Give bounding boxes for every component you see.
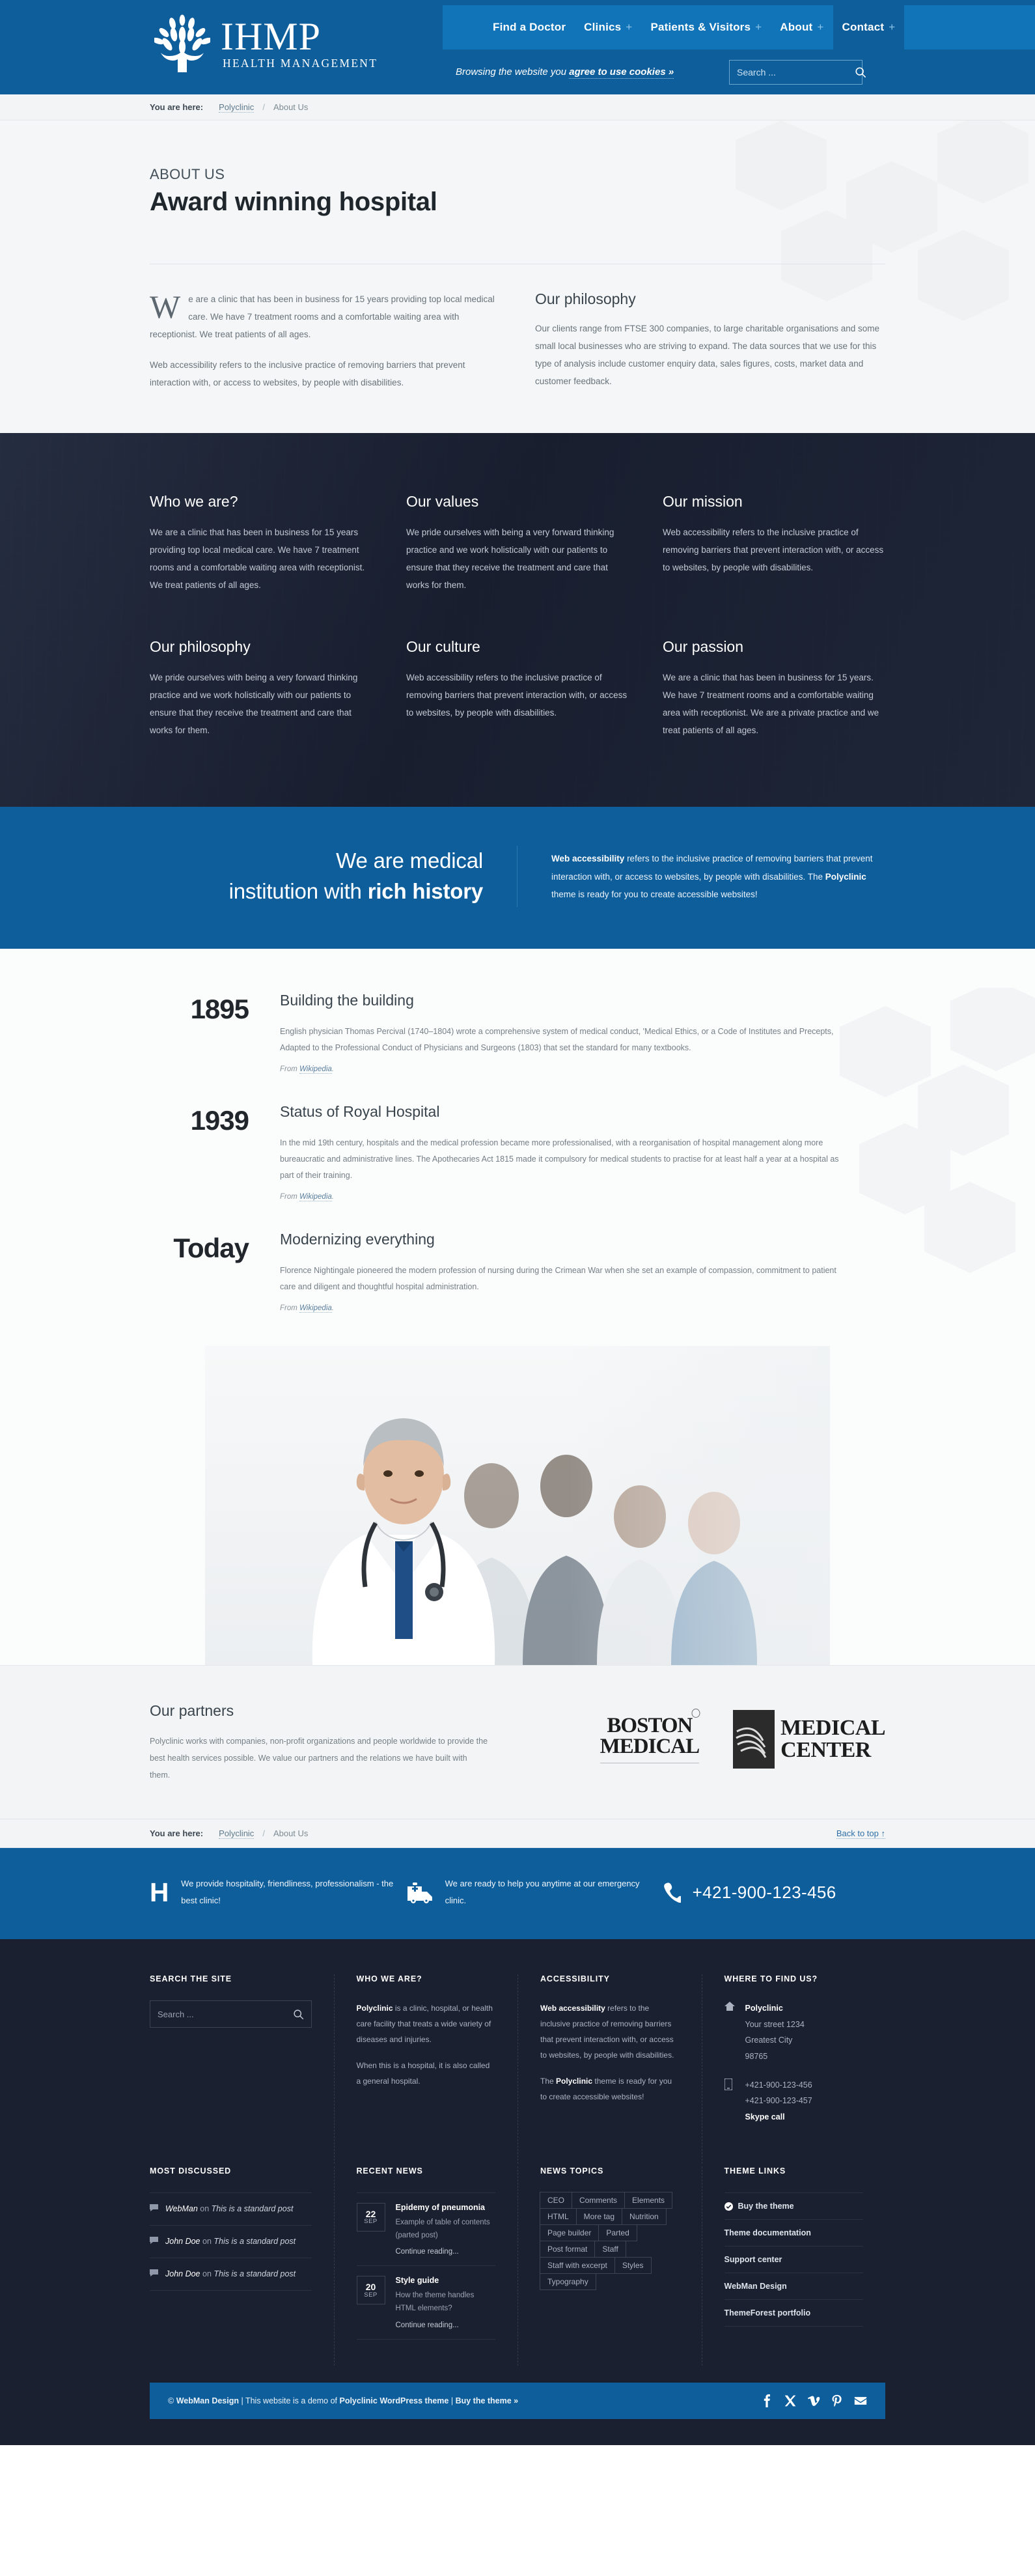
footer-search[interactable] — [150, 2000, 312, 2028]
widget-title: MOST DISCUSSED — [150, 2166, 312, 2176]
news-date: 22SEP — [357, 2203, 385, 2232]
wikipedia-link[interactable]: Wikipedia — [299, 1193, 332, 1201]
comment-author: John Doe — [165, 2269, 200, 2278]
tag-post-format[interactable]: Post format — [540, 2241, 595, 2258]
history-banner: We are medical institution with rich his… — [0, 807, 1035, 949]
timeline-heading: Modernizing everything — [280, 1231, 846, 1248]
breadcrumb-bar-bottom: You are here: Polyclinic / About Us Back… — [0, 1819, 1035, 1848]
timeline-text: Florence Nightingale pioneered the moder… — [280, 1263, 846, 1295]
partner-logo-line-2: CENTER — [780, 1739, 885, 1761]
wikipedia-link[interactable]: Wikipedia — [299, 1304, 332, 1313]
widget-title: NEWS TOPICS — [540, 2166, 680, 2176]
timeline-text: In the mid 19th century, hospitals and t… — [280, 1135, 846, 1184]
philosophy-heading: Our philosophy — [535, 290, 885, 308]
phone-block: +421-900-123-456 +421-900-123-457 Skype … — [724, 2077, 864, 2125]
footer-search-input[interactable] — [150, 2009, 286, 2019]
tag-elements[interactable]: Elements — [624, 2192, 672, 2209]
footer-widget-who-we-are: WHO WE ARE? Polyclinic is a clinic, hosp… — [334, 1974, 518, 2164]
value-card-heading: Our culture — [406, 638, 629, 656]
nav-item-label: Clinics — [584, 21, 621, 34]
history-timeline-section: 1895Building the buildingEnglish physici… — [0, 949, 1035, 1665]
banner-body-bold-1: Web accessibility — [551, 854, 624, 863]
ambulance-icon — [406, 1881, 434, 1903]
tag-html[interactable]: HTML — [540, 2208, 577, 2225]
wikipedia-link[interactable]: Wikipedia — [299, 1065, 332, 1074]
hospital-h-icon: H — [150, 1877, 169, 1908]
news-month: SEP — [364, 2292, 378, 2299]
copy-part-1: © — [168, 2396, 176, 2405]
comment-icon — [150, 2267, 158, 2282]
timeline-heading: Status of Royal Hospital — [280, 1103, 846, 1121]
search-icon — [855, 66, 866, 78]
nav-item-find-a-doctor[interactable]: Find a Doctor — [484, 5, 575, 49]
copyright-text: © WebMan Design | This website is a demo… — [168, 2396, 518, 2405]
theme-link-label: Theme documentation — [724, 2228, 811, 2237]
footer-widget-most-discussed: MOST DISCUSSED WebMan on This is a stand… — [150, 2166, 334, 2366]
source-suffix: . — [332, 1304, 334, 1312]
footer-phone-block[interactable]: +421-900-123-456 — [663, 1882, 885, 1903]
search-input[interactable] — [730, 67, 855, 77]
mobile-icon — [724, 2077, 736, 2125]
comment-post-title[interactable]: This is a standard post — [214, 2237, 296, 2246]
copy-bold-1[interactable]: WebMan Design — [176, 2396, 239, 2405]
footer-widget-search: SEARCH THE SITE — [150, 1974, 334, 2164]
cookie-consent-link[interactable]: agree to use cookies » — [569, 66, 674, 79]
a11y-pre: The — [540, 2077, 556, 2086]
copyright-section: © WebMan Design | This website is a demo… — [0, 2366, 1035, 2445]
comment-on: on — [200, 2237, 214, 2246]
chevron-plus-icon: + — [755, 21, 762, 34]
news-excerpt: How the theme handles HTML elements? — [396, 2289, 496, 2315]
tag-page-builder[interactable]: Page builder — [540, 2224, 599, 2241]
theme-link-webman-design[interactable]: WebMan Design — [724, 2273, 864, 2300]
footer-phone-2[interactable]: +421-900-123-457 — [745, 2096, 812, 2105]
hero-divider — [150, 264, 885, 264]
value-card-text: We are a clinic that has been in busines… — [150, 524, 372, 594]
value-card-heading: Our philosophy — [150, 638, 372, 656]
hero-eyebrow: ABOUT US — [150, 166, 885, 183]
timeline-source: From Wikipedia. — [280, 1065, 846, 1073]
footer-phone-1[interactable]: +421-900-123-456 — [745, 2080, 812, 2090]
value-card: Our missionWeb accessibility refers to t… — [663, 493, 885, 594]
doctors-team-photo — [205, 1346, 830, 1665]
breadcrumb-home-link[interactable]: Polyclinic — [219, 102, 254, 113]
source-suffix: . — [332, 1065, 334, 1073]
tag-staff[interactable]: Staff — [594, 2241, 626, 2258]
news-excerpt: Example of table of contents (parted pos… — [396, 2216, 496, 2242]
site-logo[interactable]: IHMP HEALTH MANAGEMENT — [154, 13, 378, 73]
chevron-plus-icon: + — [626, 21, 632, 34]
tree-hands-logo-icon — [154, 13, 210, 73]
theme-link-label: Support center — [724, 2255, 782, 2264]
value-card-text: Web accessibility refers to the inclusiv… — [406, 669, 629, 721]
timeline-entry: 1939Status of Royal HospitalIn the mid 1… — [150, 1107, 885, 1201]
comment-post-title[interactable]: This is a standard post — [212, 2204, 294, 2213]
value-card-heading: Our passion — [663, 638, 885, 656]
value-card-heading: Who we are? — [150, 493, 372, 511]
banner-body-bold-2: Polyclinic — [825, 872, 866, 882]
timeline-source: From Wikipedia. — [280, 1304, 846, 1312]
news-day: 22 — [366, 2209, 376, 2219]
banner-line-1: We are medical — [336, 848, 483, 873]
comment-icon — [150, 2234, 158, 2249]
nav-item-label: About — [780, 21, 812, 34]
check-circle-icon — [724, 2202, 733, 2211]
partner-logo-line-1: MEDICAL — [780, 1717, 885, 1739]
copy-bold-2[interactable]: Polyclinic WordPress theme — [339, 2396, 448, 2405]
banner-headline: We are medical institution with rich his… — [150, 846, 517, 907]
value-card-text: Web accessibility refers to the inclusiv… — [663, 524, 885, 576]
theme-link-themeforest-portfolio[interactable]: ThemeForest portfolio — [724, 2300, 864, 2327]
values-section: Who we are?We are a clinic that has been… — [0, 433, 1035, 807]
email-icon[interactable] — [854, 2394, 867, 2407]
partner-logo-rule — [600, 1763, 700, 1763]
search-icon — [293, 2009, 304, 2020]
nav-item-label: Contact — [842, 21, 885, 34]
value-card: Our passionWe are a clinic that has been… — [663, 638, 885, 739]
header-search[interactable] — [729, 60, 862, 85]
source-prefix: From — [280, 1193, 299, 1201]
source-prefix: From — [280, 1065, 299, 1073]
comment-icon — [150, 2202, 158, 2217]
address-block: Polyclinic Your street 1234 Greatest Cit… — [724, 2000, 864, 2064]
comment-on: on — [198, 2204, 212, 2213]
tag-staff-with-excerpt[interactable]: Staff with excerpt — [540, 2257, 615, 2274]
news-month: SEP — [364, 2219, 378, 2225]
timeline-entry: 1895Building the buildingEnglish physici… — [150, 996, 885, 1073]
breadcrumb-bar-top: You are here: Polyclinic / About Us — [0, 94, 1035, 120]
hero-right-column: Our philosophy Our clients range from FT… — [535, 290, 885, 391]
home-icon — [724, 2000, 736, 2064]
footer-highlight-hospitality: H We provide hospitality, friendliness, … — [150, 1875, 406, 1909]
nav-item-label: Patients & Visitors — [650, 21, 751, 34]
footer-widget-find-us: WHERE TO FIND US? Polyclinic Your street… — [702, 1974, 886, 2164]
breadcrumb-current: About Us — [273, 102, 308, 112]
news-title[interactable]: Epidemy of pneumonia — [396, 2203, 496, 2212]
news-date: 20SEP — [357, 2276, 385, 2304]
timeline-source: From Wikipedia. — [280, 1193, 846, 1201]
footer-phone-number[interactable]: +421-900-123-456 — [693, 1883, 836, 1903]
tag-ceo[interactable]: CEO — [540, 2192, 572, 2209]
breadcrumb-label: You are here: — [150, 102, 203, 112]
value-card: Our cultureWeb accessibility refers to t… — [406, 638, 629, 739]
back-to-top-link[interactable]: Back to top ↑ — [836, 1828, 885, 1839]
value-card: Who we are?We are a clinic that has been… — [150, 493, 372, 594]
tag-parted[interactable]: Parted — [598, 2224, 637, 2241]
hero-paragraph: Web accessibility refers to the inclusiv… — [150, 356, 500, 391]
who-text-2: When this is a hospital, it is also call… — [357, 2058, 496, 2089]
widget-title: SEARCH THE SITE — [150, 1974, 312, 1983]
theme-link-label: WebMan Design — [724, 2282, 787, 2291]
logo-title: IHMP — [221, 17, 378, 56]
site-footer: SEARCH THE SITE WHO WE ARE? Polyclin — [0, 1939, 1035, 2444]
tag-comments[interactable]: Comments — [572, 2192, 625, 2209]
partner-logo-line-1: BOSTON — [600, 1715, 700, 1736]
widget-title: ACCESSIBILITY — [540, 1974, 680, 1983]
cookie-notice: Browsing the website you agree to use co… — [456, 66, 674, 77]
value-card-text: We are a clinic that has been in busines… — [663, 669, 885, 739]
comment-item[interactable]: John Doe on This is a standard post — [150, 2226, 312, 2258]
footer-highlight-text: We provide hospitality, friendliness, pr… — [181, 1875, 406, 1909]
banner-line-2-plain: institution with — [229, 879, 368, 903]
tag-nutrition[interactable]: Nutrition — [622, 2208, 667, 2225]
footer-search-submit-button[interactable] — [286, 2001, 311, 2027]
facebook-icon[interactable] — [760, 2394, 773, 2407]
a11y-bold-2: Polyclinic — [556, 2077, 592, 2086]
timeline-entry: TodayModernizing everythingFlorence Nigh… — [150, 1235, 885, 1312]
source-prefix: From — [280, 1304, 299, 1312]
banner-body-text-2: theme is ready for you to create accessi… — [551, 889, 758, 899]
theme-link-buy-the-theme[interactable]: Buy the theme — [724, 2192, 864, 2220]
partners-text: Polyclinic works with companies, non-pro… — [150, 1733, 488, 1784]
chevron-plus-icon: + — [817, 21, 823, 34]
footer-highlight-text: We are ready to help you anytime at our … — [445, 1875, 663, 1909]
timeline-heading: Building the building — [280, 992, 846, 1009]
comment-item[interactable]: WebMan on This is a standard post — [150, 2192, 312, 2226]
address-street: Your street 1234 — [745, 2020, 805, 2029]
value-card: Our valuesWe pride ourselves with being … — [406, 493, 629, 594]
breadcrumb-separator: / — [262, 102, 265, 112]
breadcrumb-current: About Us — [273, 1828, 308, 1838]
page-title: Award winning hospital — [150, 188, 885, 217]
news-item[interactable]: 20SEPStyle guideHow the theme handles HT… — [357, 2266, 496, 2339]
phone-icon — [663, 1882, 681, 1903]
timeline-year: Today — [150, 1235, 280, 1312]
vimeo-icon[interactable] — [807, 2394, 820, 2407]
breadcrumb-home-link[interactable]: Polyclinic — [219, 1828, 254, 1839]
boston-medical-logo[interactable]: BOSTON MEDICAL — [600, 1715, 700, 1763]
news-item[interactable]: 22SEPEpidemy of pneumoniaExample of tabl… — [357, 2192, 496, 2266]
value-card-text: We pride ourselves with being a very for… — [406, 524, 629, 594]
news-day: 20 — [366, 2282, 376, 2292]
banner-line-2-bold: rich history — [368, 879, 483, 903]
hero-left-column: We are a clinic that has been in busines… — [150, 290, 500, 391]
comment-author: WebMan — [165, 2204, 198, 2213]
search-submit-button[interactable] — [855, 61, 866, 84]
banner-body: Web accessibility refers to the inclusiv… — [517, 846, 885, 907]
theme-link-support-center[interactable]: Support center — [724, 2247, 864, 2273]
copy-bold-3[interactable]: Buy the theme » — [456, 2396, 519, 2405]
about-hero-section: ABOUT US Award winning hospital We are a… — [0, 120, 1035, 433]
logo-subtitle: HEALTH MANAGEMENT — [221, 58, 378, 70]
medical-center-logo[interactable]: MEDICAL CENTER — [733, 1710, 885, 1769]
cookie-prefix: Browsing the website you — [456, 66, 569, 77]
value-card: Our philosophyWe pride ourselves with be… — [150, 638, 372, 739]
theme-link-label: ThemeForest portfolio — [724, 2308, 811, 2317]
nav-item-patients-visitors[interactable]: Patients & Visitors+ — [641, 5, 771, 49]
medical-center-mark-icon — [733, 1710, 775, 1769]
footer-widget-recent-news: RECENT NEWS 22SEPEpidemy of pneumoniaExa… — [334, 2166, 518, 2366]
a11y-bold: Web accessibility — [540, 2004, 605, 2013]
page-root: IHMP HEALTH MANAGEMENT Find a DoctorClin… — [0, 0, 1035, 2445]
widget-title: RECENT NEWS — [357, 2166, 496, 2176]
comment-author: John Doe — [165, 2237, 200, 2246]
footer-skype[interactable]: Skype call — [745, 2112, 785, 2121]
comment-post-title[interactable]: This is a standard post — [214, 2269, 296, 2278]
widget-title: WHO WE ARE? — [357, 1974, 496, 1983]
breadcrumb-separator: / — [262, 1828, 265, 1838]
news-continue-link[interactable]: Continue reading... — [396, 2248, 496, 2256]
theme-link-theme-documentation[interactable]: Theme documentation — [724, 2220, 864, 2247]
source-suffix: . — [332, 1193, 334, 1201]
tag-more-tag[interactable]: More tag — [576, 2208, 622, 2225]
social-links — [760, 2394, 867, 2407]
hero-paragraph: We are a clinic that has been in busines… — [150, 290, 500, 343]
partners-heading: Our partners — [150, 1702, 488, 1720]
comment-on: on — [200, 2269, 214, 2278]
value-card-heading: Our values — [406, 493, 629, 511]
partners-section: Our partners Polyclinic works with compa… — [0, 1665, 1035, 1819]
tag-typography[interactable]: Typography — [540, 2273, 596, 2290]
main-navigation[interactable]: Find a DoctorClinics+Patients & Visitors… — [443, 5, 1035, 49]
pinterest-icon[interactable] — [831, 2394, 844, 2407]
copy-part-3: | — [448, 2396, 455, 2405]
chevron-plus-icon: + — [889, 21, 895, 34]
tag-styles[interactable]: Styles — [614, 2257, 652, 2274]
footer-widget-news-topics: NEWS TOPICS CEOCommentsElementsHTMLMore … — [517, 2166, 702, 2366]
address-org: Polyclinic — [745, 2004, 783, 2013]
news-title[interactable]: Style guide — [396, 2276, 496, 2285]
footer-widget-accessibility: ACCESSIBILITY Web accessibility refers t… — [517, 1974, 702, 2164]
oval-swoosh-icon — [691, 1709, 700, 1718]
footer-highlight-emergency: We are ready to help you anytime at our … — [406, 1875, 663, 1909]
who-bold: Polyclinic — [357, 2004, 393, 2013]
nav-item-clinics[interactable]: Clinics+ — [575, 5, 641, 49]
timeline-text: English physician Thomas Percival (1740–… — [280, 1024, 846, 1056]
breadcrumb-footer: You are here: Polyclinic / About Us Back… — [150, 1828, 885, 1839]
theme-link-label: Buy the theme — [738, 2202, 794, 2211]
news-continue-link[interactable]: Continue reading... — [396, 2321, 496, 2329]
svg-text:H: H — [150, 1878, 169, 1908]
address-city: Greatest City — [745, 2036, 793, 2045]
twitter-icon[interactable] — [784, 2394, 797, 2407]
value-card-heading: Our mission — [663, 493, 885, 511]
nav-item-label: Find a Doctor — [493, 21, 566, 34]
comment-item[interactable]: John Doe on This is a standard post — [150, 2258, 312, 2291]
timeline-year: 1895 — [150, 996, 280, 1073]
widget-title: WHERE TO FIND US? — [724, 1974, 864, 1983]
site-header: IHMP HEALTH MANAGEMENT Find a DoctorClin… — [0, 0, 1035, 94]
philosophy-text: Our clients range from FTSE 300 companie… — [535, 320, 885, 390]
footer-highlights: H We provide hospitality, friendliness, … — [0, 1848, 1035, 1939]
footer-widget-theme-links: THEME LINKS Buy the themeTheme documenta… — [702, 2166, 886, 2366]
cookie-notice-bar: Browsing the website you agree to use co… — [443, 49, 1035, 94]
value-card-text: We pride ourselves with being a very for… — [150, 669, 372, 739]
partner-logo-line-2: MEDICAL — [600, 1736, 700, 1757]
nav-item-contact[interactable]: Contact+ — [833, 5, 905, 49]
copy-part-2: | This website is a demo of — [239, 2396, 339, 2405]
breadcrumb-label: You are here: — [150, 1828, 203, 1838]
nav-item-about[interactable]: About+ — [771, 5, 833, 49]
timeline-year: 1939 — [150, 1107, 280, 1201]
breadcrumb: You are here: Polyclinic / About Us — [150, 102, 885, 113]
address-zip: 98765 — [745, 2052, 768, 2061]
widget-title: THEME LINKS — [724, 2166, 864, 2176]
